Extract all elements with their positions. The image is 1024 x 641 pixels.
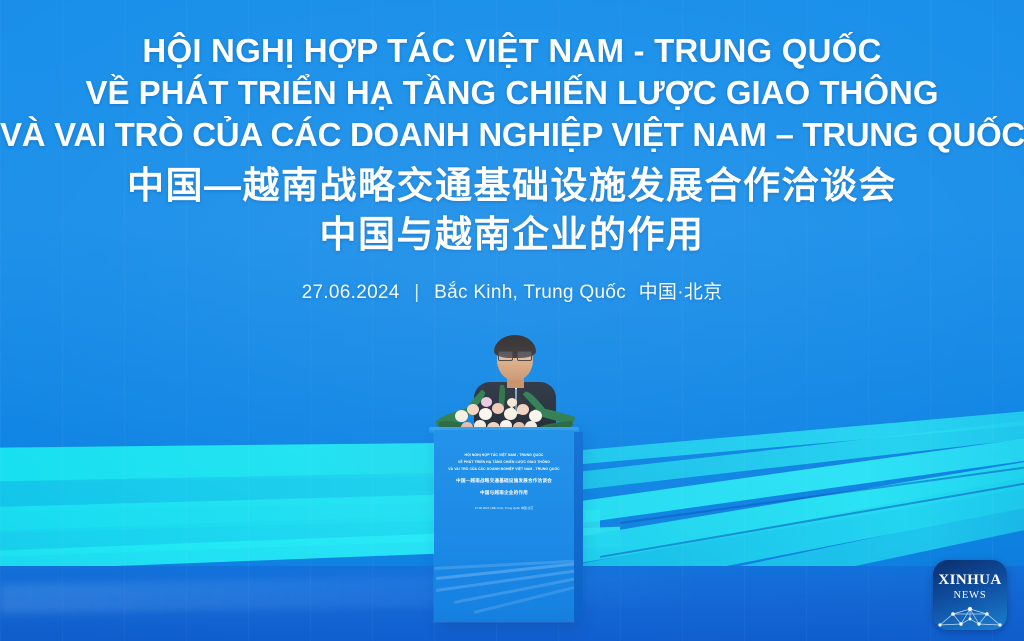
podium-light-streaks bbox=[434, 560, 574, 622]
flower-bloom bbox=[504, 408, 517, 420]
speaker-eyeglasses bbox=[498, 351, 532, 360]
podium-vi-line-3: VÀ VAI TRÒ CỦA CÁC DOANH NGHIỆP VIỆT NAM… bbox=[437, 466, 571, 473]
xinhua-news-watermark: XINHUA NEWS bbox=[933, 560, 1007, 630]
podium-vi-line-1: HỘI NGHỊ HỢP TÁC VIỆT NAM - TRUNG QUỐC bbox=[437, 452, 571, 459]
podium-vi-line-2: VỀ PHÁT TRIỂN HẠ TẦNG CHIẾN LƯỢC GIAO TH… bbox=[437, 459, 571, 466]
flower-bloom bbox=[479, 408, 492, 420]
flower-bloom bbox=[517, 404, 529, 415]
xinhua-news-text: NEWS bbox=[933, 590, 1007, 601]
podium-zh-line-1: 中国—越南战略交通基础设施发展合作洽谈会 bbox=[437, 476, 571, 485]
flower-bloom bbox=[481, 397, 492, 407]
podium-side-face bbox=[574, 432, 583, 620]
flower-bloom bbox=[467, 404, 479, 415]
podium-meta-line: 27.06.2024 | Bắc Kinh, Trung Quốc 中国·北京 bbox=[437, 506, 571, 510]
network-nodes-icon bbox=[933, 602, 1007, 630]
flower-bloom bbox=[492, 403, 504, 414]
flower-bloom bbox=[455, 410, 468, 422]
xinhua-brand-text: XINHUA bbox=[933, 572, 1007, 589]
podium-zh-line-2: 中国与越南企业的作用 bbox=[437, 488, 571, 497]
conference-stage-photo: HỘI NGHỊ HỢP TÁC VIỆT NAM - TRUNG QUỐC V… bbox=[0, 0, 1024, 641]
flower-bloom bbox=[507, 398, 517, 407]
podium-panel-text: HỘI NGHỊ HỢP TÁC VIỆT NAM - TRUNG QUỐC V… bbox=[437, 452, 571, 510]
stage-foreground: HỘI NGHỊ HỢP TÁC VIỆT NAM - TRUNG QUỐC V… bbox=[0, 0, 1024, 641]
